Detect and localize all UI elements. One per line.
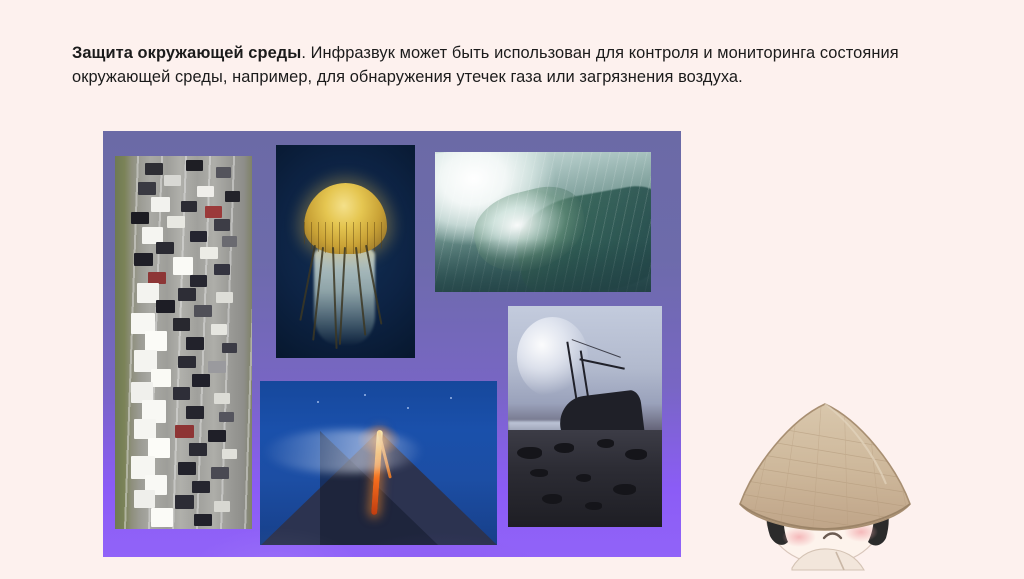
beach-rock — [542, 494, 562, 504]
beach-rock — [530, 469, 548, 478]
beach-sand — [508, 430, 662, 527]
body-text-lead: Защита окружающей среды — [72, 44, 301, 62]
aerial-traffic-jam-photo — [115, 156, 252, 529]
ash-plume — [265, 430, 421, 473]
wave-trough — [435, 239, 651, 292]
beach-rock — [517, 447, 542, 459]
hazy-sun — [517, 317, 588, 397]
beach-rock — [625, 449, 647, 460]
chibi-straw-hat — [720, 392, 916, 542]
ocean-wave-photo — [435, 152, 651, 292]
jellyfish-bell — [304, 183, 387, 253]
shipwreck-beach-photo — [508, 306, 662, 527]
beach-rock — [554, 443, 574, 453]
volcano-eruption-photo — [260, 381, 497, 545]
night-star — [450, 397, 452, 399]
beach-rock — [585, 502, 602, 511]
night-star — [317, 401, 319, 403]
jellyfish-photo — [276, 145, 415, 358]
slide-canvas: Защита окружающей среды. Инфразвук может… — [0, 0, 1024, 574]
night-star — [407, 407, 409, 409]
collage-panel — [103, 131, 681, 557]
jellyfish-tentacle — [299, 245, 315, 321]
slide-body-text: Защита окружающей среды. Инфразвук может… — [72, 42, 944, 90]
beach-rock — [576, 474, 591, 482]
chibi-boy-with-straw-hat — [700, 392, 950, 574]
vehicles-layer — [115, 156, 252, 529]
night-star — [364, 394, 366, 396]
chibi-illustration-svg — [700, 392, 950, 574]
beach-rock — [597, 439, 614, 448]
beach-rock — [613, 484, 636, 495]
